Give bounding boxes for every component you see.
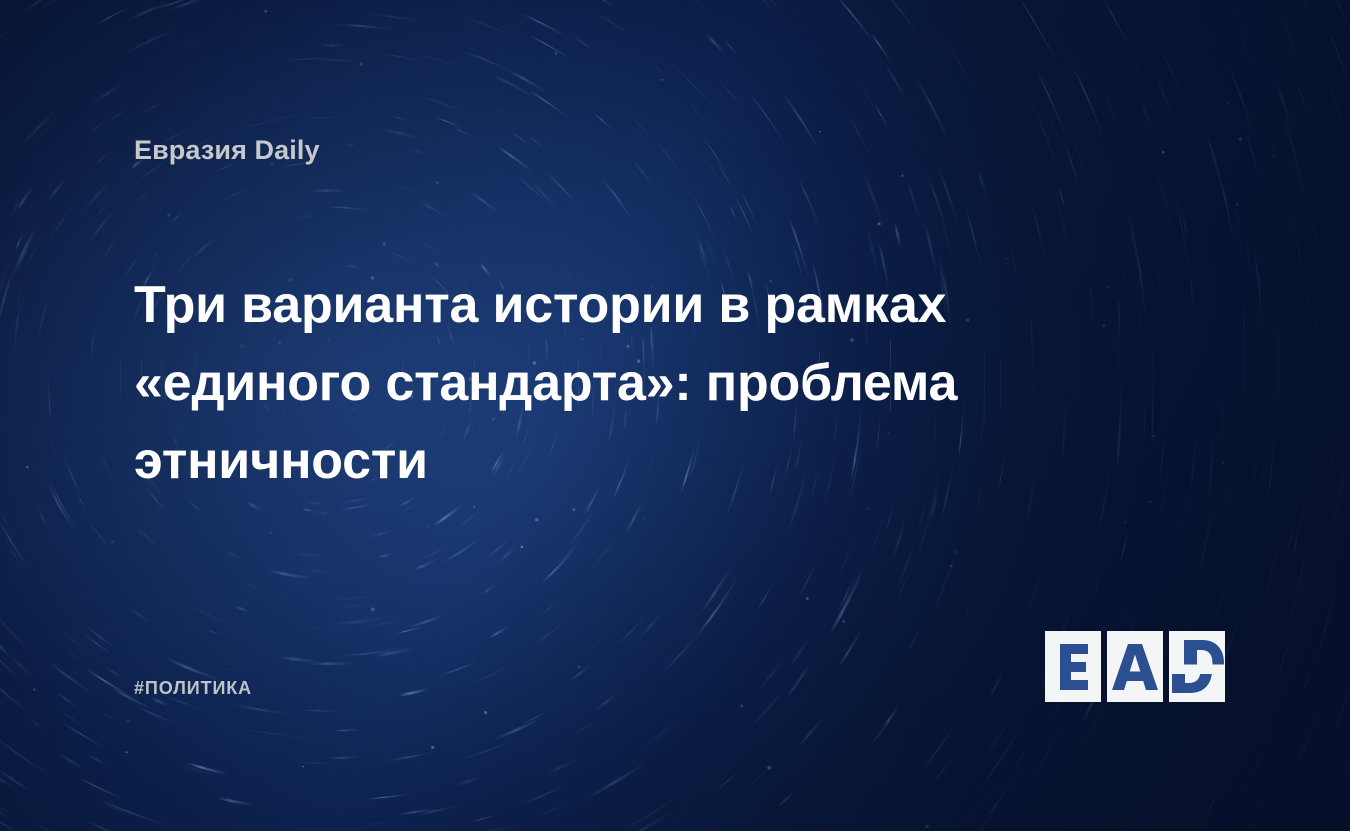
page-title: Три варианта истории в рамках «единого с… <box>134 266 1034 500</box>
category-tag: #ПОЛИТИКА <box>134 678 252 699</box>
eadaily-logo <box>1045 631 1225 702</box>
logo-tile-d-split <box>1169 631 1225 702</box>
brand-label: Евразия Daily <box>134 135 320 166</box>
share-card: Евразия Daily Три варианта истории в рам… <box>0 0 1350 831</box>
logo-tile-a <box>1107 631 1163 702</box>
logo-tile-e <box>1045 631 1101 702</box>
